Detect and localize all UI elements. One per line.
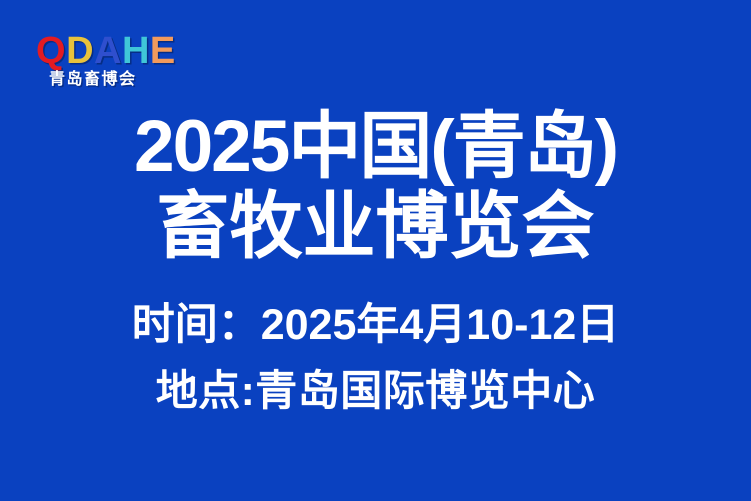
expo-poster: QDAHE 青岛畜博会 2025中国(青岛) 畜牧业博览会 时间：2025年4月… xyxy=(0,0,751,501)
logo-letter-e: E xyxy=(150,33,176,69)
logo-letter-a: A xyxy=(94,33,122,69)
title-line-2: 畜牧业博览会 xyxy=(0,184,751,270)
logo-subtitle: 青岛畜博会 xyxy=(49,71,236,89)
event-venue: 地点:青岛国际博览中心 xyxy=(0,358,751,424)
logo-letter-q: Q xyxy=(36,33,66,69)
title-line-1: 2025中国(青岛) xyxy=(0,104,751,190)
logo-letter-h: H xyxy=(122,33,150,69)
logo-block: QDAHE 青岛畜博会 xyxy=(36,33,236,95)
logo-wordmark: QDAHE xyxy=(36,33,236,69)
logo-letter-d: D xyxy=(66,33,94,69)
info-block: 时间：2025年4月10-12日 地点:青岛国际博览中心 xyxy=(0,292,751,424)
page-title: 2025中国(青岛) 畜牧业博览会 xyxy=(0,104,751,270)
event-date: 时间：2025年4月10-12日 xyxy=(0,292,751,358)
